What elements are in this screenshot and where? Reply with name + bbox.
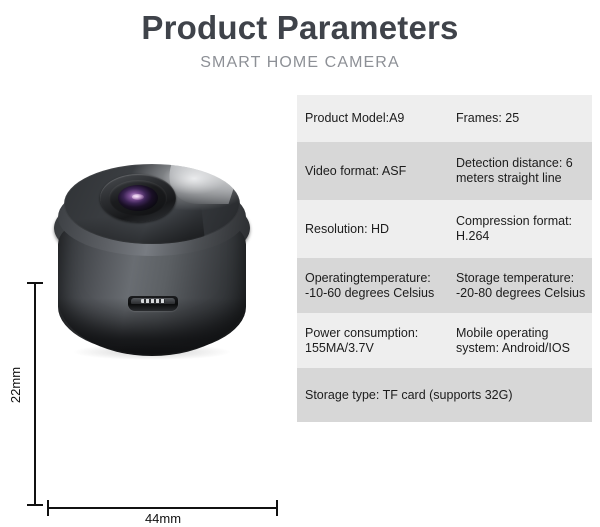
height-dimension-cap-bottom	[27, 504, 43, 506]
camera-lens-glass	[118, 185, 158, 211]
spec-cell-left: Operatingtemperature: -10-60 degrees Cel…	[297, 258, 448, 313]
camera-lens-mid-ring	[109, 180, 167, 216]
camera-photo	[48, 148, 256, 363]
table-row: Product Model:A9 Frames: 25	[297, 95, 592, 142]
product-parameters-page: Product Parameters SMART HOME CAMERA	[0, 0, 600, 450]
height-dimension-cap-top	[27, 282, 43, 284]
product-illustration: 22mm 44mm	[0, 130, 292, 390]
spec-cell-left: Product Model:A9	[297, 95, 448, 142]
table-row: Operatingtemperature: -10-60 degrees Cel…	[297, 258, 592, 313]
camera-lens-glint	[132, 194, 144, 200]
table-row: Video format: ASF Detection distance: 6 …	[297, 142, 592, 200]
spec-cell-left: Resolution: HD	[297, 200, 448, 258]
table-row: Storage type: TF card (supports 32G)	[297, 368, 592, 422]
spec-cell-right: Frames: 25	[448, 95, 592, 142]
table-row: Power consumption: 155MA/3.7V Mobile ope…	[297, 313, 592, 368]
width-dimension-line	[48, 507, 278, 509]
spec-cell-right: Storage temperature: -20-80 degrees Cels…	[448, 258, 592, 313]
micro-usb-port	[128, 296, 178, 311]
spec-cell-left: Power consumption: 155MA/3.7V	[297, 313, 448, 368]
height-dimension-line	[34, 282, 36, 506]
spec-cell-full: Storage type: TF card (supports 32G)	[297, 368, 592, 422]
height-dimension-label: 22mm	[9, 361, 23, 409]
page-title: Product Parameters	[0, 8, 600, 48]
spec-cell-left: Video format: ASF	[297, 142, 448, 200]
micro-usb-pins	[141, 299, 165, 303]
spec-cell-right: Mobile operating system: Android/IOS	[448, 313, 592, 368]
width-dimension-label: 44mm	[48, 511, 278, 527]
spec-cell-right: Compression format: H.264	[448, 200, 592, 258]
camera-lens-outer-ring	[100, 174, 176, 222]
page-subtitle: SMART HOME CAMERA	[0, 53, 600, 73]
camera-ground-shadow	[74, 344, 230, 360]
table-row: Resolution: HD Compression format: H.264	[297, 200, 592, 258]
spec-cell-right: Detection distance: 6 meters straight li…	[448, 142, 592, 200]
specification-table: Product Model:A9 Frames: 25 Video format…	[297, 95, 592, 422]
